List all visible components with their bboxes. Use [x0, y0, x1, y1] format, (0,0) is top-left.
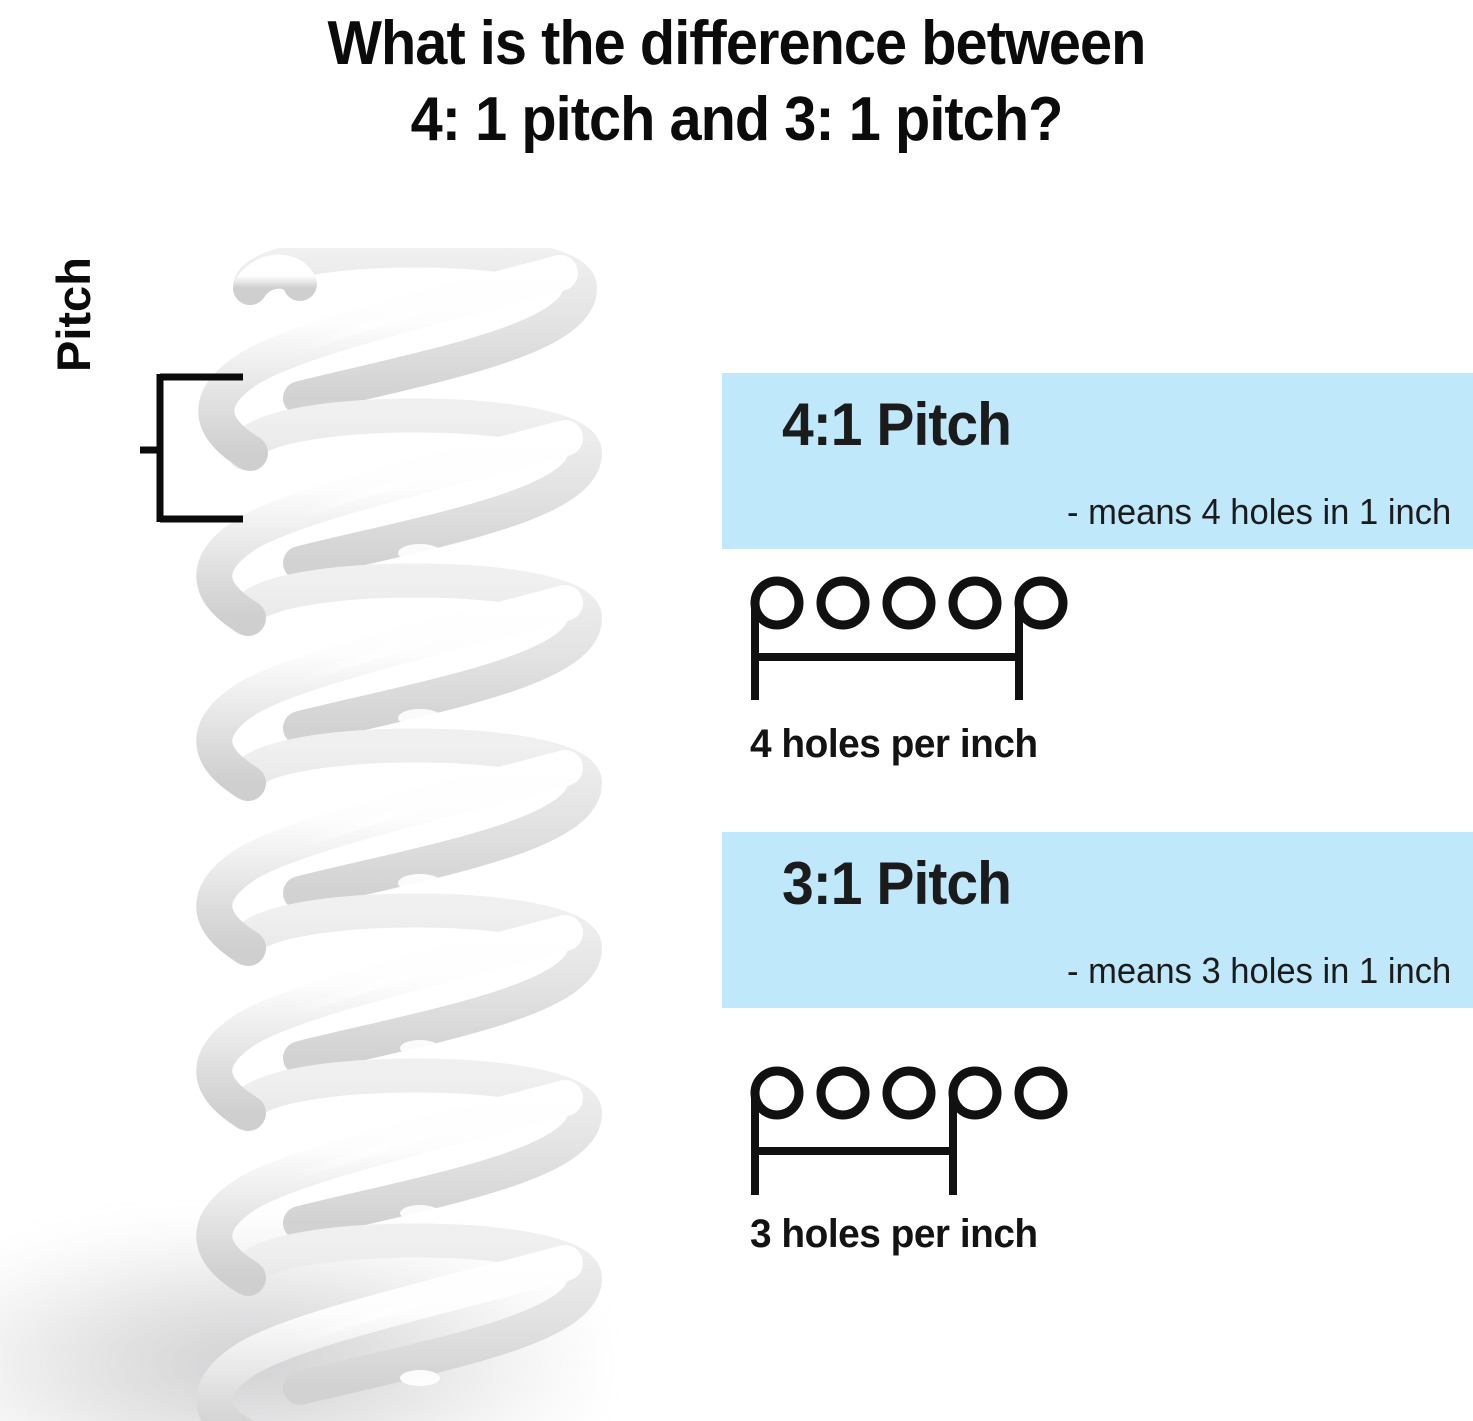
- holes-diagram-3-per-inch: 3 holes per inch: [722, 1055, 1142, 1295]
- holes-caption-3: 3 holes per inch: [750, 1212, 1038, 1257]
- infographic-page: What is the difference between 4: 1 pitc…: [0, 0, 1473, 1421]
- holes-caption-4: 4 holes per inch: [750, 722, 1038, 767]
- pitch-3-1-heading: 3:1 Pitch: [782, 854, 1421, 914]
- four-holes-bracket-icon: [722, 565, 1142, 715]
- pitch-4-1-heading: 4:1 Pitch: [782, 395, 1421, 455]
- holes-diagram-4-per-inch: 4 holes per inch: [722, 565, 1142, 805]
- pitch-4-1-description: - means 4 holes in 1 inch: [1067, 491, 1451, 533]
- three-holes-bracket-icon: [722, 1055, 1142, 1205]
- pitch-3-1-description: - means 3 holes in 1 inch: [1067, 950, 1451, 992]
- pitch-measurement-group: Pitch: [0, 0, 300, 700]
- pitch-4-1-callout: 4:1 Pitch - means 4 holes in 1 inch: [722, 373, 1473, 549]
- pitch-3-1-callout: 3:1 Pitch - means 3 holes in 1 inch: [722, 832, 1473, 1008]
- pitch-bracket-icon: [0, 0, 300, 700]
- pitch-label: Pitch: [46, 222, 101, 372]
